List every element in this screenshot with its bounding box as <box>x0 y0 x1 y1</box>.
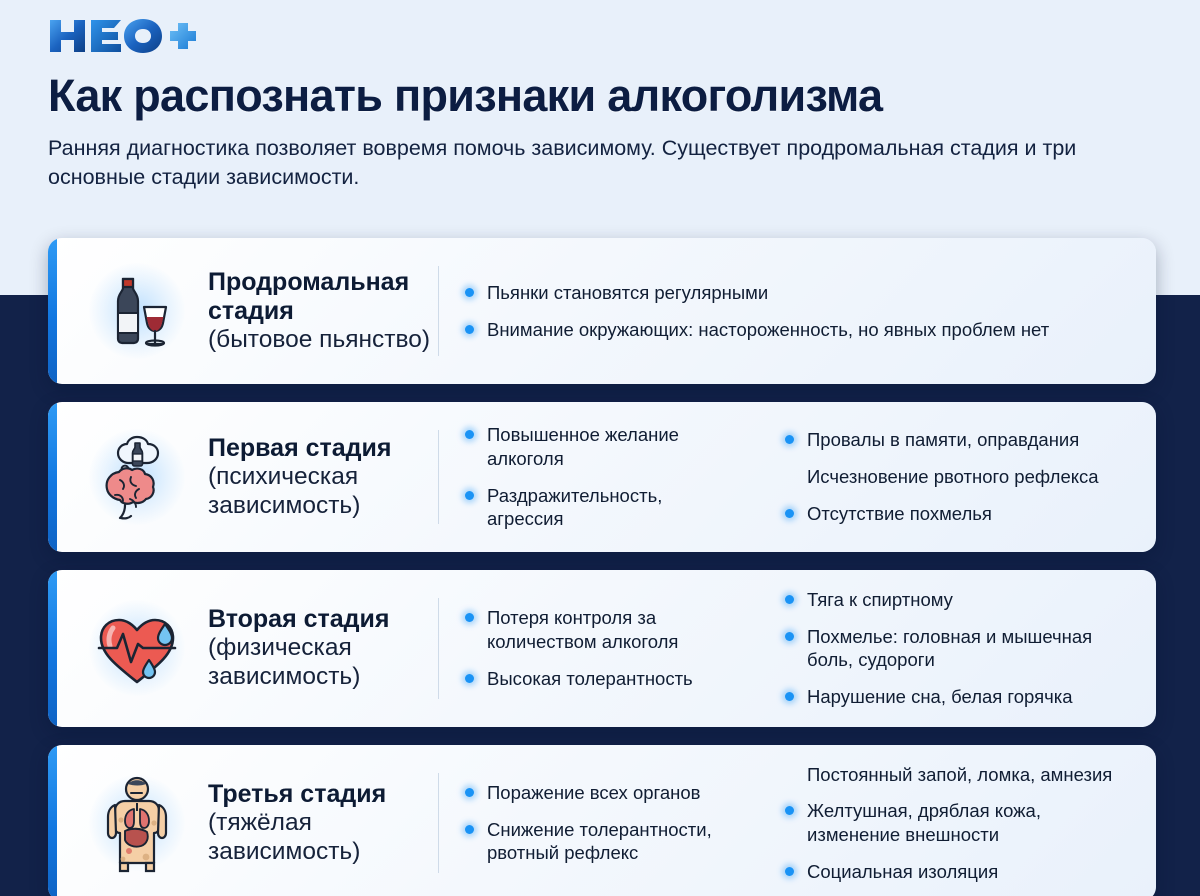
stage-card-third[interactable]: Третья стадия (тяжёлая зависимость) Пора… <box>48 745 1156 896</box>
stage-name: Продромальная стадия <box>208 268 438 326</box>
stage-head: Третья стадия (тяжёлая зависимость) <box>48 763 438 884</box>
page-title: Как распознать признаки алкоголизма <box>48 72 1152 120</box>
stage-card-second[interactable]: Вторая стадия (физическая зависимость) П… <box>48 570 1156 727</box>
stage-text: Вторая стадия (физическая зависимость) <box>192 605 438 692</box>
stage-subtitle: (психическая зависимость) <box>208 463 438 521</box>
stage-head: Вторая стадия (физическая зависимость) <box>48 588 438 709</box>
stage-name: Первая стадия <box>208 434 438 463</box>
brain-thought-bottle-icon <box>82 422 192 532</box>
bullet-column: Провалы в памяти, оправдания Исчезновени… <box>759 428 1134 525</box>
page-subtitle: Ранняя диагностика позволяет вовремя пом… <box>48 134 1108 193</box>
stage-cards-list: Продромальная стадия (бытовое пьянство) … <box>48 238 1156 896</box>
list-item: Тяга к спиртному <box>785 588 1116 612</box>
stage-text: Продромальная стадия (бытовое пьянство) <box>192 268 438 355</box>
list-item: Потеря контроля за количеством алкоголя <box>465 606 741 653</box>
stage-subtitle: (физическая зависимость) <box>208 634 438 692</box>
list-item: Раздражительность, агрессия <box>465 484 741 531</box>
page-header: Как распознать признаки алкоголизма Ранн… <box>0 0 1200 193</box>
stage-text: Третья стадия (тяжёлая зависимость) <box>192 780 438 867</box>
heo-plus-logo-icon <box>48 16 198 56</box>
list-item: Социальная изоляция <box>785 860 1116 884</box>
bullet-columns: Повышенное желание алкоголя Раздражитель… <box>439 420 1134 534</box>
stage-subtitle: (тяжёлая зависимость) <box>208 809 438 867</box>
stage-text: Первая стадия (психическая зависимость) <box>192 434 438 521</box>
list-item: Повышенное желание алкоголя <box>465 423 741 470</box>
stage-card-first[interactable]: Первая стадия (психическая зависимость) … <box>48 402 1156 552</box>
bullet-column: Пьянки становятся регулярными Внимание о… <box>439 281 1134 341</box>
bullet-columns: Потеря контроля за количеством алкоголя … <box>439 588 1134 709</box>
stage-name: Третья стадия <box>208 780 438 809</box>
list-item: Постоянный запой, ломка, амнезия <box>785 763 1116 787</box>
stage-head: Первая стадия (психическая зависимость) <box>48 420 438 534</box>
list-item: Провалы в памяти, оправдания <box>785 428 1116 452</box>
stage-card-prodromal[interactable]: Продромальная стадия (бытовое пьянство) … <box>48 238 1156 384</box>
heart-pulse-drop-icon <box>82 593 192 703</box>
stage-head: Продромальная стадия (бытовое пьянство) <box>48 256 438 366</box>
list-item: Высокая толерантность <box>465 667 741 691</box>
bullet-columns: Пьянки становятся регулярными Внимание о… <box>439 256 1134 366</box>
human-body-organs-icon <box>82 768 192 878</box>
wine-bottle-glass-icon <box>82 256 192 366</box>
brand-logo <box>48 14 1152 58</box>
bullet-columns: Поражение всех органов Снижение толерант… <box>439 763 1134 884</box>
list-item: Нарушение сна, белая горячка <box>785 685 1116 709</box>
infographic-page: Как распознать признаки алкоголизма Ранн… <box>0 0 1200 896</box>
stage-subtitle: (бытовое пьянство) <box>208 326 438 355</box>
list-item: Исчезновение рвотного рефлекса <box>785 465 1116 489</box>
bullet-column: Поражение всех органов Снижение толерант… <box>439 781 759 865</box>
list-item: Похмелье: головная и мышечная боль, судо… <box>785 625 1116 672</box>
list-item: Желтушная, дряблая кожа, изменение внешн… <box>785 799 1116 846</box>
bullet-column: Тяга к спиртному Похмелье: головная и мы… <box>759 588 1134 709</box>
list-item: Пьянки становятся регулярными <box>465 281 1116 305</box>
bullet-column: Повышенное желание алкоголя Раздражитель… <box>439 423 759 531</box>
bullet-column: Постоянный запой, ломка, амнезия Желтушн… <box>759 763 1134 884</box>
list-item: Внимание окружающих: настороженность, но… <box>465 318 1116 342</box>
list-item: Отсутствие похмелья <box>785 502 1116 526</box>
stage-name: Вторая стадия <box>208 605 438 634</box>
list-item: Поражение всех органов <box>465 781 741 805</box>
list-item: Снижение толерантности, рвотный рефлекс <box>465 818 741 865</box>
bullet-column: Потеря контроля за количеством алкоголя … <box>439 606 759 690</box>
